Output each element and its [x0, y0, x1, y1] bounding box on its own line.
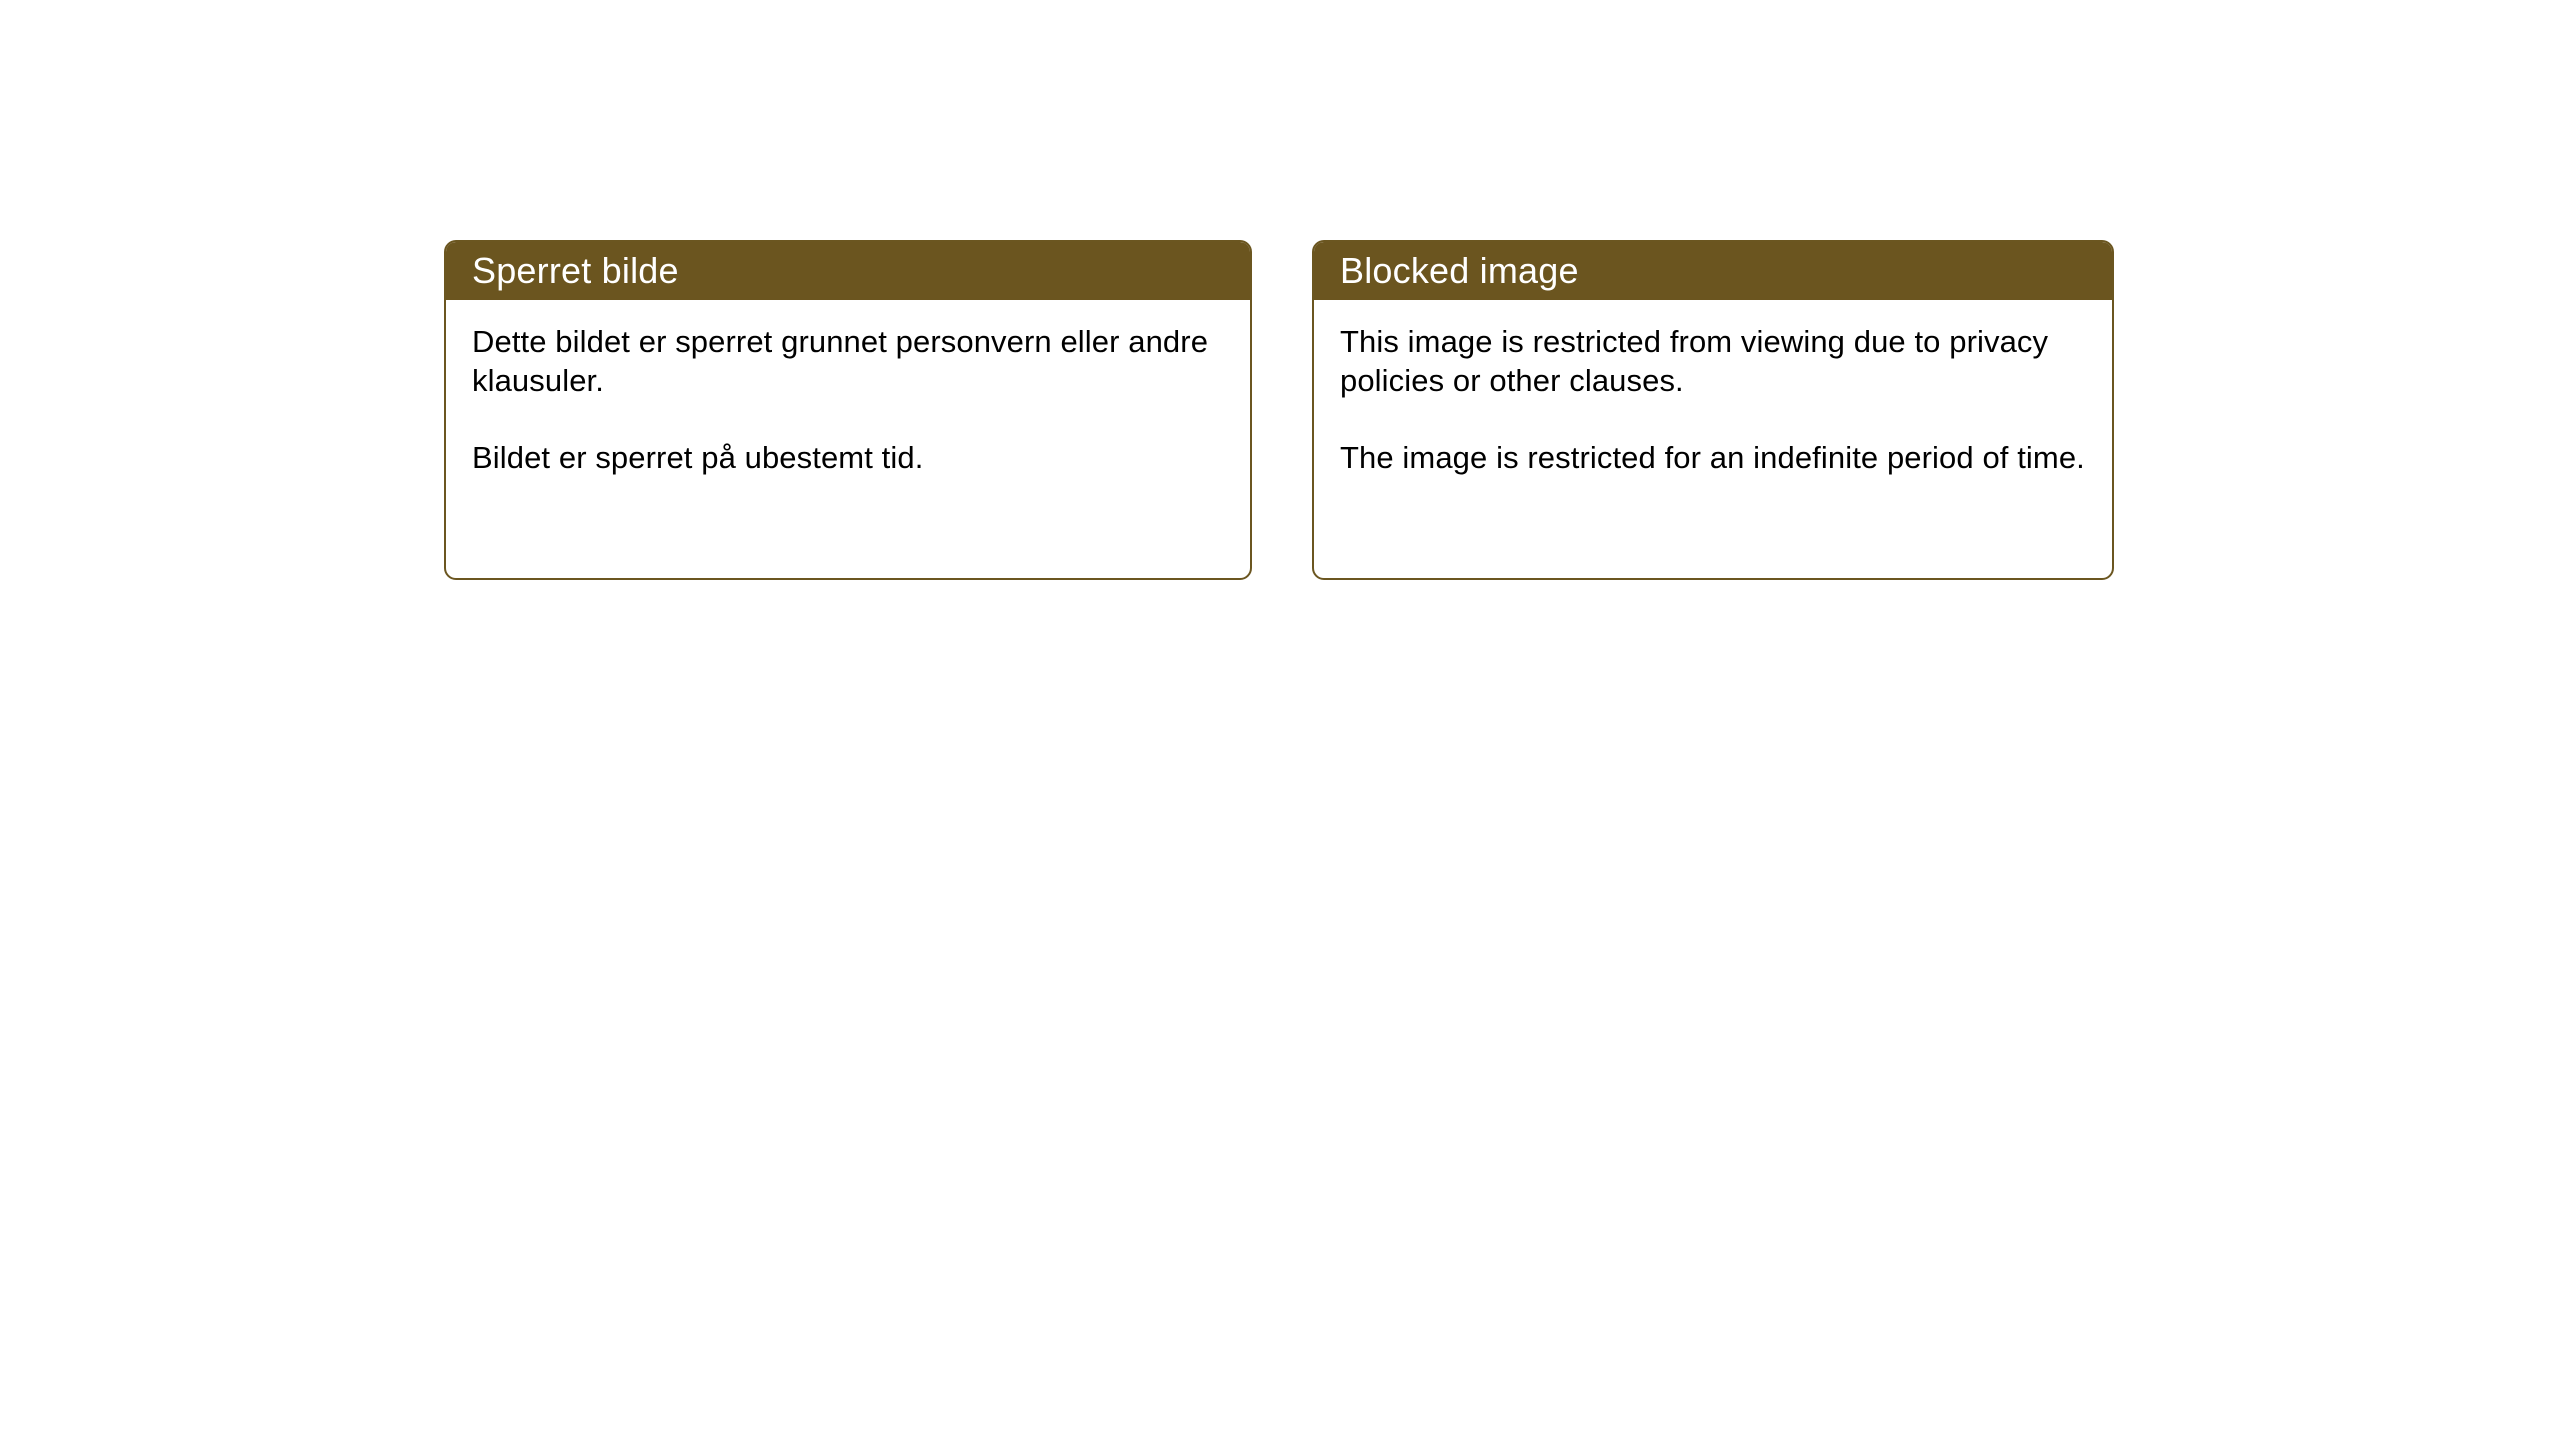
blocked-image-card-norwegian: Sperret bilde Dette bildet er sperret gr… — [444, 240, 1252, 580]
card-paragraph-duration-norwegian: Bildet er sperret på ubestemt tid. — [472, 438, 1224, 477]
card-body-norwegian: Dette bildet er sperret grunnet personve… — [446, 300, 1250, 477]
card-header-norwegian: Sperret bilde — [446, 242, 1250, 300]
card-paragraph-reason-norwegian: Dette bildet er sperret grunnet personve… — [472, 322, 1224, 400]
card-title-english: Blocked image — [1340, 253, 1579, 289]
card-paragraph-reason-english: This image is restricted from viewing du… — [1340, 322, 2086, 400]
card-paragraph-duration-english: The image is restricted for an indefinit… — [1340, 438, 2086, 477]
card-title-norwegian: Sperret bilde — [472, 253, 679, 289]
page-root: Sperret bilde Dette bildet er sperret gr… — [0, 0, 2560, 1440]
blocked-image-card-english: Blocked image This image is restricted f… — [1312, 240, 2114, 580]
card-body-english: This image is restricted from viewing du… — [1314, 300, 2112, 477]
card-header-english: Blocked image — [1314, 242, 2112, 300]
